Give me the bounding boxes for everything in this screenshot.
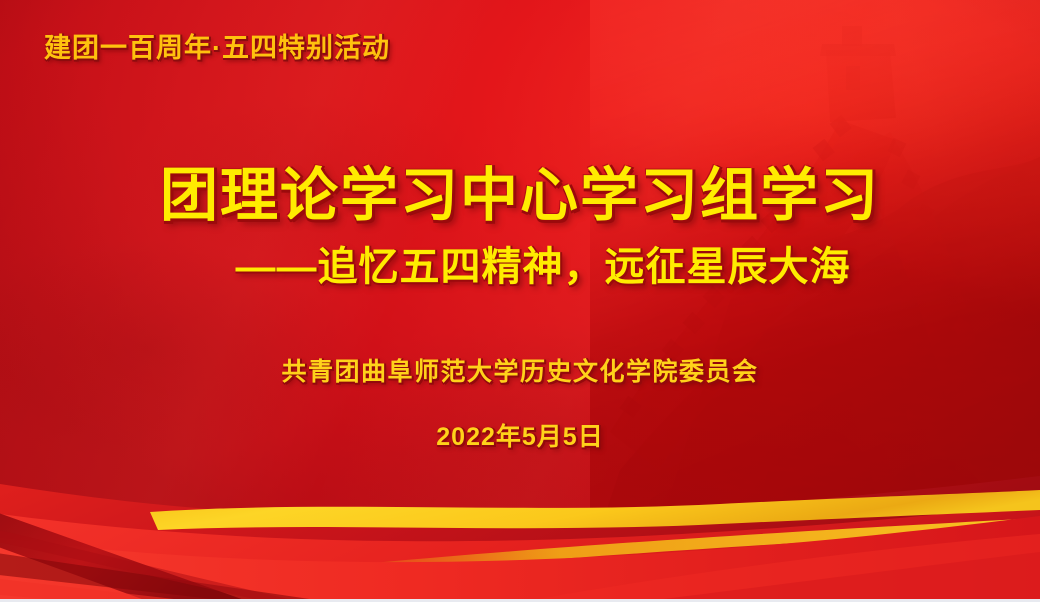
event-date: 2022年5月5日 [0, 417, 1040, 453]
credits-block: 共青团曲阜师范大学历史文化学院委员会 2022年5月5日 [0, 352, 1040, 453]
title-block: 团理论学习中心学习组学习 ——追忆五四精神，远征星辰大海 [0, 165, 1040, 292]
poster-canvas: 建团一百周年·五四特别活动 团理论学习中心学习组学习 ——追忆五四精神，远征星辰… [0, 0, 1040, 602]
eyebrow-banner-text: 建团一百周年·五四特别活动 [44, 26, 390, 65]
page-subtitle: ——追忆五四精神，远征星辰大海 [0, 234, 1040, 292]
organization-name: 共青团曲阜师范大学历史文化学院委员会 [0, 352, 1040, 388]
poster-content: 建团一百周年·五四特别活动 团理论学习中心学习组学习 ——追忆五四精神，远征星辰… [0, 0, 1040, 602]
page-title: 团理论学习中心学习组学习 [0, 165, 1040, 228]
